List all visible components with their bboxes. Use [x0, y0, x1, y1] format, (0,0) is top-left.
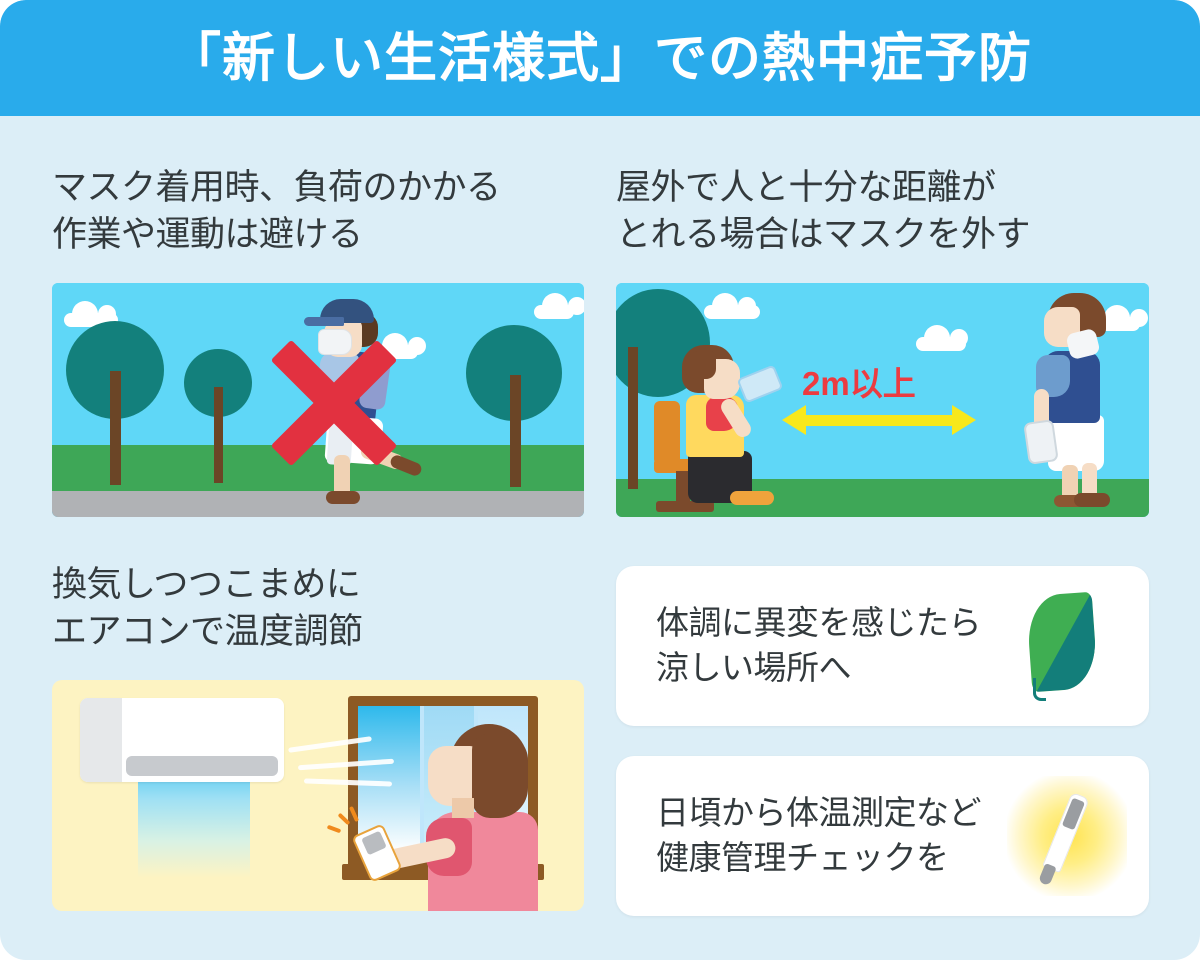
face-mask-icon — [1023, 419, 1059, 465]
panel-mask-exercise: マスク着用時、負荷のかかる 作業や運動は避ける — [52, 165, 584, 517]
illustration-jogger-with-mask — [52, 283, 584, 517]
illustration-aircon-window — [52, 680, 584, 911]
air-conditioner-icon — [80, 698, 284, 782]
panel-ventilation-aircon: 換気しつつこまめに エアコンで温度調節 — [52, 562, 584, 914]
water-bottle-icon — [737, 364, 784, 403]
cloud-icon — [704, 305, 760, 319]
tree-icon — [466, 325, 562, 485]
person-holding-mask — [1026, 293, 1136, 507]
double-arrow-icon — [782, 405, 976, 435]
card-temperature-check[interactable]: 日頃から体温測定など 健康管理チェックを — [616, 756, 1149, 916]
card-temperature-text: 日頃から体温測定など 健康管理チェックを — [656, 791, 981, 880]
thermometer-icon — [1007, 776, 1127, 896]
spark-line — [327, 825, 342, 834]
person-drinking-water — [678, 345, 798, 505]
page-title: 「新しい生活様式」での熱中症予防 — [168, 32, 1032, 85]
prohibition-cross-icon — [258, 327, 410, 479]
cloud-icon — [534, 305, 574, 319]
distance-label: 2m以上 — [802, 357, 916, 405]
leaf-icon — [1007, 586, 1127, 706]
panel-aircon-heading: 換気しつつこまめに エアコンで温度調節 — [52, 562, 363, 655]
infographic-poster: 「新しい生活様式」での熱中症予防 マスク着用時、負荷のかかる 作業や運動は避ける — [0, 0, 1200, 960]
panel-distance-heading: 屋外で人と十分な距離が とれる場合はマスクを外す — [616, 165, 1030, 258]
poster-header: 「新しい生活様式」での熱中症予防 — [0, 0, 1200, 116]
card-cooldown[interactable]: 体調に異変を感じたら 涼しい場所へ — [616, 566, 1149, 726]
tree-icon — [66, 321, 164, 485]
person-with-remote — [422, 724, 572, 911]
panel-mask-heading: マスク着用時、負荷のかかる 作業や運動は避ける — [52, 165, 501, 258]
card-cooldown-text: 体調に異変を感じたら 涼しい場所へ — [656, 601, 981, 690]
cloud-icon — [916, 337, 966, 351]
illustration-keeping-distance: 2m以上 — [616, 283, 1149, 517]
tree-icon — [184, 349, 252, 481]
panel-social-distance: 屋外で人と十分な距離が とれる場合はマスクを外す — [616, 165, 1149, 517]
